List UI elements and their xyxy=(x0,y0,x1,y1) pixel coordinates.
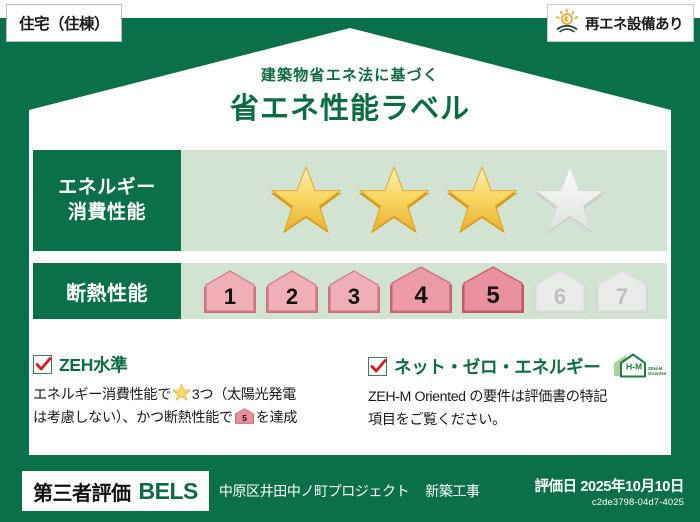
insulation-level-5-value: 5 xyxy=(242,413,247,423)
energy-performance-label: エネルギー 消費性能 xyxy=(33,150,181,251)
category-tag: 住宅（住棟） xyxy=(6,4,122,42)
insulation-level-value: 6 xyxy=(554,284,566,309)
evaluation-date: 評価日 2025年10月10日 xyxy=(534,475,684,496)
label-subtitle: 建築物省エネ法に基づく xyxy=(0,64,700,85)
bels-energy-label: 住宅（住棟） 再エネ設備あり 建築物省エネ法に基づく 省エネ性能ラベル xyxy=(0,0,700,522)
net-zero-energy-heading: ネット・ゼロ・エネルギー H-M ZEH-M Oriented xyxy=(368,352,659,380)
insulation-level-marker: 4 xyxy=(387,266,455,316)
project-info: 中原区井田中ノ町プロジェクト新築工事 xyxy=(219,481,480,501)
net-zero-text-line2: 項目をご覧ください。 xyxy=(368,412,506,428)
insulation-level-value: 7 xyxy=(616,284,628,309)
gold-star-icon xyxy=(269,165,343,237)
net-zero-energy-description: ZEH-M Oriented の要件は評価書の特記 項目をご覧ください。 xyxy=(368,386,659,432)
star-rating xyxy=(181,165,607,237)
evaluation-info: 評価日 2025年10月10日 c2de3798-04d7-4025 xyxy=(534,475,684,508)
insulation-level-marker: 3 xyxy=(325,270,383,316)
insulation-level-5-icon: 5 xyxy=(234,408,255,425)
gold-star-icon xyxy=(445,165,519,237)
energy-performance-row: エネルギー 消費性能 xyxy=(33,150,667,251)
zeh-standard-section: ZEH水準 エネルギー消費性能で3つ（太陽光発電 は考慮しない）、かつ断熱性能で… xyxy=(33,352,350,447)
bels-jp-label: 第三者評価 xyxy=(33,477,131,506)
bels-en-label: BELS xyxy=(139,478,198,505)
zeh-text-part4: を達成 xyxy=(256,410,297,426)
insulation-level-value: 1 xyxy=(224,284,236,309)
zeh-standard-heading: ZEH水準 xyxy=(33,352,342,377)
net-zero-energy-title: ネット・ゼロ・エネルギー xyxy=(394,354,600,379)
solar-sun-icon xyxy=(554,8,580,39)
energy-performance-body xyxy=(181,150,667,251)
insulation-level-value: 2 xyxy=(286,284,298,309)
insulation-level-marker: 2 xyxy=(263,270,321,316)
footer-bar: 第三者評価 BELS 中原区井田中ノ町プロジェクト新築工事 評価日 2025年1… xyxy=(0,460,700,522)
insulation-level-marker: 5 xyxy=(459,266,527,316)
energy-label-line2: 消費性能 xyxy=(68,201,146,225)
insulation-level-marker-empty: 6 xyxy=(531,270,589,316)
energy-label-line1: エネルギー xyxy=(58,176,156,200)
zeh-m-logo-inner-text: H-M xyxy=(626,362,642,372)
empty-star-icon xyxy=(533,165,607,237)
checkbox-checked-icon xyxy=(33,355,52,374)
insulation-label-text: 断熱性能 xyxy=(66,277,148,306)
insulation-level-value: 5 xyxy=(486,282,499,309)
category-tag-label: 住宅（住棟） xyxy=(19,12,109,34)
zeh-text-part2: 3つ（太陽光発電 xyxy=(192,387,296,403)
renewable-badge-label: 再エネ設備あり xyxy=(585,13,683,34)
insulation-level-value: 3 xyxy=(348,284,360,309)
insulation-performance-body: 1 2 3 4 xyxy=(181,263,667,319)
checkbox-checked-icon xyxy=(368,357,387,376)
gold-star-icon xyxy=(357,165,431,237)
criteria-sections: ZEH水準 エネルギー消費性能で3つ（太陽光発電 は考慮しない）、かつ断熱性能で… xyxy=(33,352,667,447)
net-zero-energy-section: ネット・ゼロ・エネルギー H-M ZEH-M Oriented ZEH-M Or… xyxy=(350,352,667,447)
zeh-m-oriented-house-logo: H-M ZEH-M Oriented xyxy=(611,352,667,380)
zeh-text-part3: は考慮しない）、かつ断熱性能で xyxy=(33,410,233,426)
bels-certification-mark: 第三者評価 BELS xyxy=(22,471,209,511)
zeh-m-logo-caption-2: Oriented xyxy=(648,371,667,376)
gold-star-icon xyxy=(172,383,191,402)
certificate-id: c2de3798-04d7-4025 xyxy=(534,497,684,508)
zeh-text-part1: エネルギー消費性能で xyxy=(33,387,171,403)
insulation-performance-label: 断熱性能 xyxy=(33,263,181,319)
insulation-level-scale: 1 2 3 4 xyxy=(181,266,651,316)
zeh-standard-description: エネルギー消費性能で3つ（太陽光発電 は考慮しない）、かつ断熱性能で5を達成 xyxy=(33,383,342,430)
insulation-level-value: 4 xyxy=(414,282,428,309)
insulation-performance-row: 断熱性能 1 2 3 xyxy=(33,263,667,319)
insulation-level-marker-empty: 7 xyxy=(593,270,651,316)
project-name: 中原区井田中ノ町プロジェクト xyxy=(219,483,409,499)
zeh-standard-title: ZEH水準 xyxy=(59,352,128,377)
label-title: 省エネ性能ラベル xyxy=(0,85,700,127)
insulation-level-marker: 1 xyxy=(201,270,259,316)
project-type: 新築工事 xyxy=(425,483,479,499)
renewable-energy-badge: 再エネ設備あり xyxy=(547,4,694,42)
net-zero-text-line1: ZEH-M Oriented の要件は評価書の特記 xyxy=(368,389,607,405)
zeh-m-logo-caption-1: ZEH-M xyxy=(648,366,662,371)
